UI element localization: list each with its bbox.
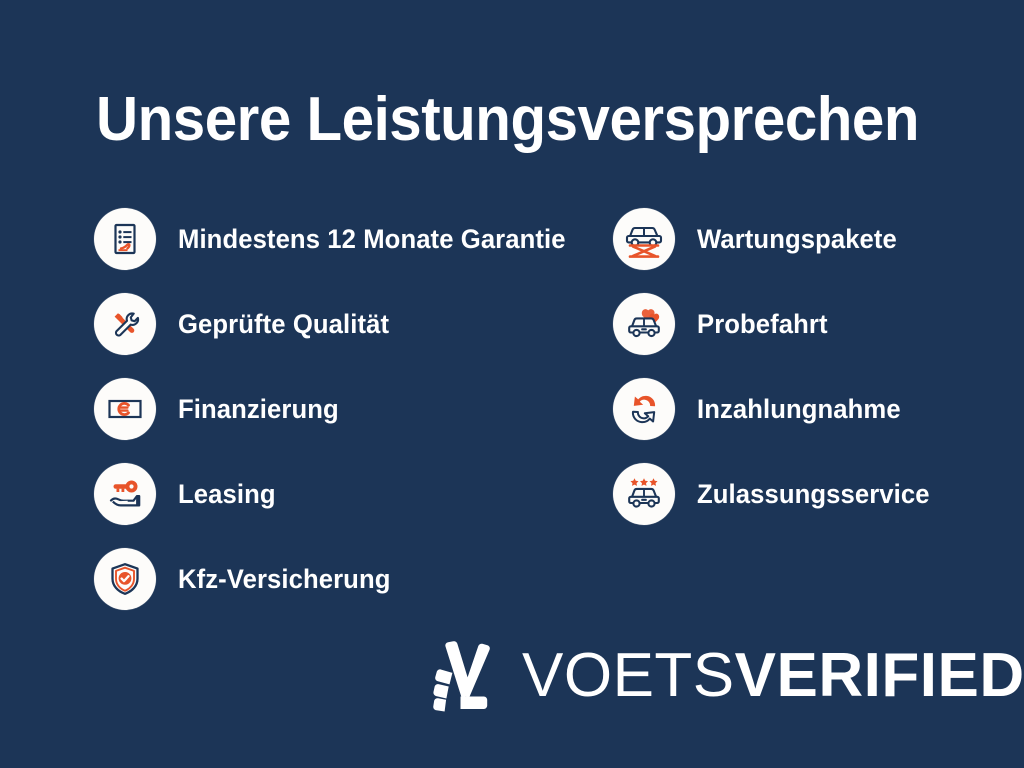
hand-with-key-icon bbox=[94, 463, 156, 525]
promo-poster: Unsere Leistungsversprechen Mindestens 1… bbox=[0, 0, 1024, 768]
voets-v-checkmark-icon bbox=[432, 636, 494, 716]
feature-label: Leasing bbox=[178, 479, 276, 509]
feature-label: Wartungspakete bbox=[697, 224, 897, 254]
feature-item-qualitaet: Geprüfte Qualität bbox=[94, 290, 594, 358]
exchange-arrows-icon bbox=[613, 378, 675, 440]
car-with-stars-icon bbox=[613, 463, 675, 525]
feature-item-finanzierung: Finanzierung bbox=[94, 375, 594, 443]
feature-label: Inzahlungnahme bbox=[697, 394, 901, 424]
feature-label: Probefahrt bbox=[697, 309, 828, 339]
feature-list-left: Mindestens 12 Monate Garantie Geprüfte Q… bbox=[94, 205, 594, 630]
shield-check-icon bbox=[94, 548, 156, 610]
car-on-lift-icon bbox=[613, 208, 675, 270]
feature-label: Zulassungsservice bbox=[697, 479, 930, 509]
voets-verified-logo: VOETSVERIFIED bbox=[432, 636, 1024, 716]
wrench-screwdriver-icon bbox=[94, 293, 156, 355]
feature-list-right: Wartungspakete Probefahrt bbox=[613, 205, 1013, 545]
page-title: Unsere Leistungsversprechen bbox=[96, 84, 904, 156]
feature-item-inzahlungnahme: Inzahlungnahme bbox=[613, 375, 1013, 443]
feature-item-wartungspakete: Wartungspakete bbox=[613, 205, 1013, 273]
feature-label: Kfz-Versicherung bbox=[178, 564, 390, 594]
logo-wordmark: VOETSVERIFIED bbox=[522, 643, 1024, 709]
car-with-hearts-icon bbox=[613, 293, 675, 355]
feature-item-versicherung: Kfz-Versicherung bbox=[94, 545, 594, 613]
feature-item-garantie: Mindestens 12 Monate Garantie bbox=[94, 205, 594, 273]
contract-document-icon bbox=[94, 208, 156, 270]
feature-item-leasing: Leasing bbox=[94, 460, 594, 528]
logo-name-voets: VOETS bbox=[522, 641, 735, 710]
feature-item-zulassungsservice: Zulassungsservice bbox=[613, 460, 1013, 528]
logo-name-verified: VERIFIED bbox=[735, 641, 1024, 710]
feature-label: Geprüfte Qualität bbox=[178, 309, 389, 339]
feature-label: Finanzierung bbox=[178, 394, 339, 424]
feature-label: Mindestens 12 Monate Garantie bbox=[178, 224, 566, 254]
feature-item-probefahrt: Probefahrt bbox=[613, 290, 1013, 358]
euro-banknote-icon bbox=[94, 378, 156, 440]
